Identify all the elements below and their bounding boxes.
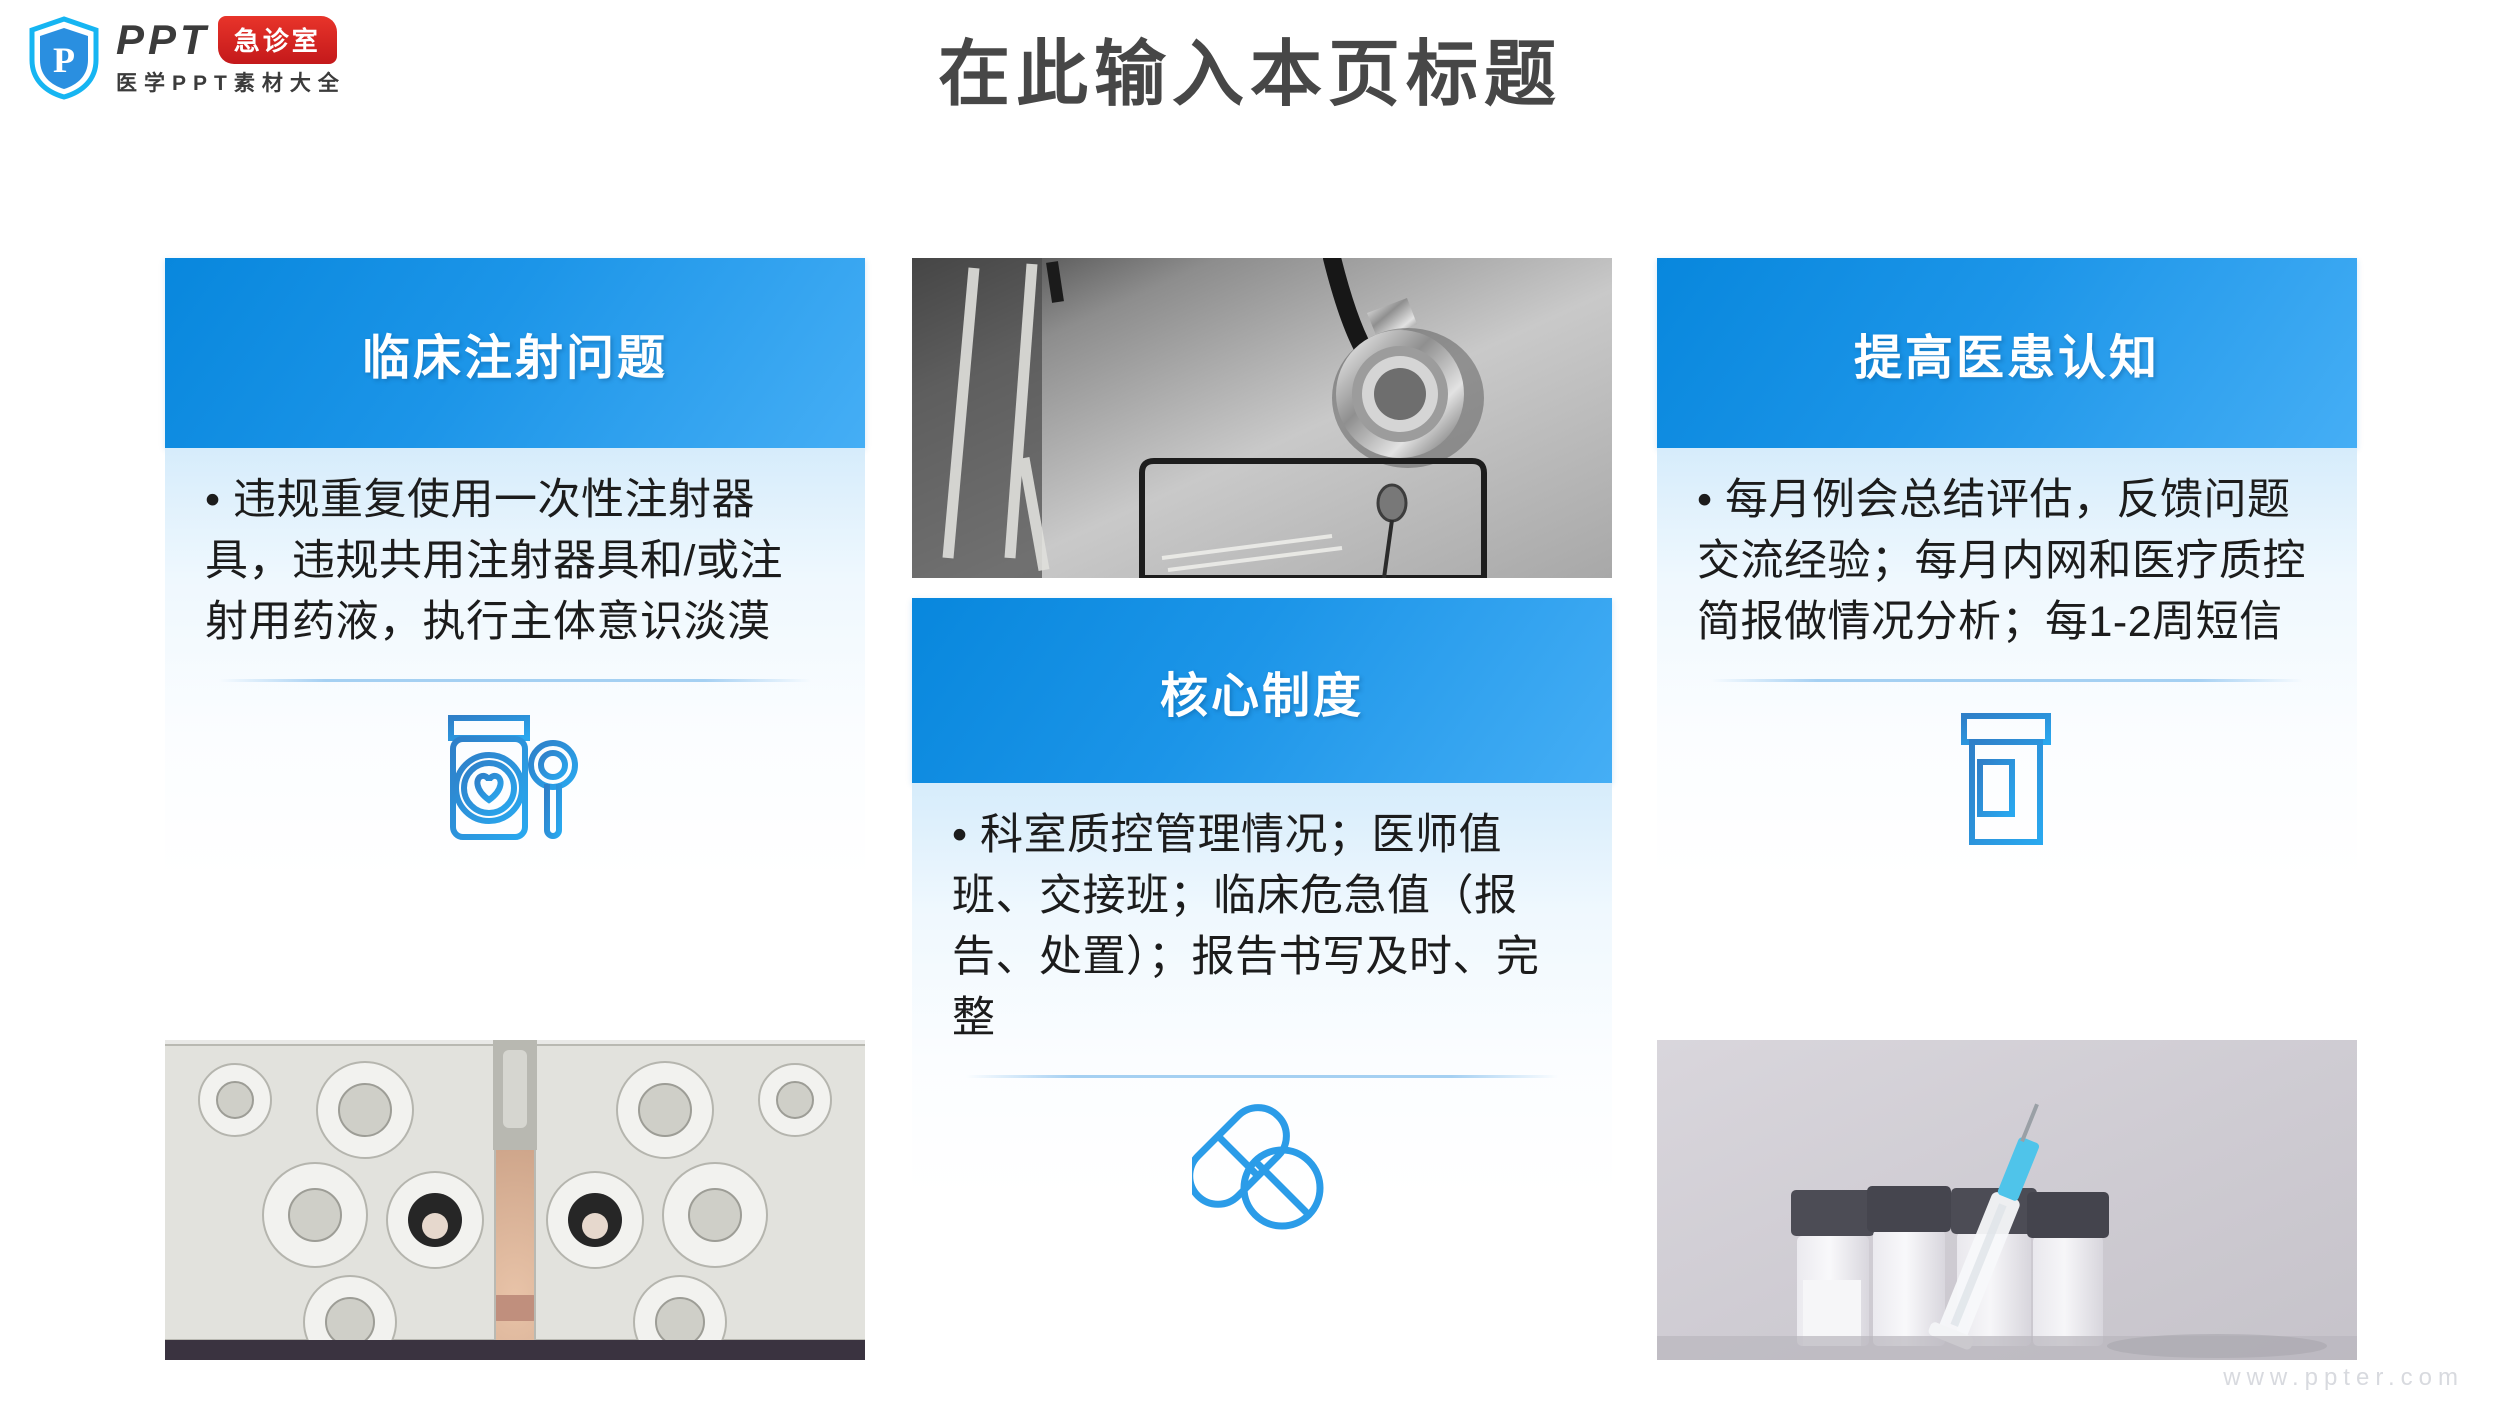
card-body-right: • 每月例会总结评估，反馈问题交流经验；每月内网和医疗质控简报做情况分析；每1-…: [1657, 448, 2357, 1048]
card-header-middle-label: 核心制度: [1160, 656, 1364, 726]
photo-syringe-vials: [1657, 1040, 2357, 1360]
column-card-left: 临床注射问题 • 违规重复使用一次性注射器具，违规共用注射器具和/或注射用药液，…: [165, 258, 865, 1048]
card-header-left: 临床注射问题: [165, 258, 865, 448]
photo-phoropter: [165, 1040, 865, 1360]
photo-stethoscope: [912, 258, 1612, 578]
card-header-middle: 核心制度: [912, 598, 1612, 783]
column-card-right: 提高医患认知 • 每月例会总结评估，反馈问题交流经验；每月内网和医疗质控简报做情…: [1657, 258, 2357, 1048]
capsule-and-tablet-pills-icon: [1192, 1104, 1332, 1239]
icon-slot-middle: [952, 1078, 1572, 1239]
icon-slot-right: [1697, 682, 2317, 853]
column-card-middle: 核心制度 • 科室质控管理情况；医师值班、交接班；临床危急值（报告、处置）；报告…: [912, 598, 1612, 1358]
bullet-text-right: • 每月例会总结评估，反馈问题交流经验；每月内网和医疗质控简报做情况分析；每1-…: [1697, 470, 2317, 653]
card-header-left-label: 临床注射问题: [362, 318, 668, 388]
bullet-text-left: • 违规重复使用一次性注射器具，违规共用注射器具和/或注射用药液，执行主体意识淡…: [205, 470, 825, 653]
icon-slot-left: [205, 682, 825, 855]
pill-bottle-label-icon: [1952, 708, 2062, 853]
medicine-bottle-heart-and-spoon-icon: [435, 708, 595, 855]
card-header-right: 提高医患认知: [1657, 258, 2357, 448]
card-body-left: • 违规重复使用一次性注射器具，违规共用注射器具和/或注射用药液，执行主体意识淡…: [165, 448, 865, 1048]
bullet-text-middle: • 科室质控管理情况；医师值班、交接班；临床危急值（报告、处置）；报告书写及时、…: [952, 805, 1572, 1049]
slide-canvas: P PPT 急诊室 医学PPT素材大全 在此输入本页标题 临床注射问题 • 违规…: [0, 0, 2500, 1406]
card-header-right-label: 提高医患认知: [1854, 318, 2160, 388]
card-body-middle: • 科室质控管理情况；医师值班、交接班；临床危急值（报告、处置）；报告书写及时、…: [912, 783, 1612, 1358]
page-title: 在此输入本页标题: [0, 36, 2500, 115]
footer-watermark: www.ppter.com: [2223, 1364, 2464, 1392]
